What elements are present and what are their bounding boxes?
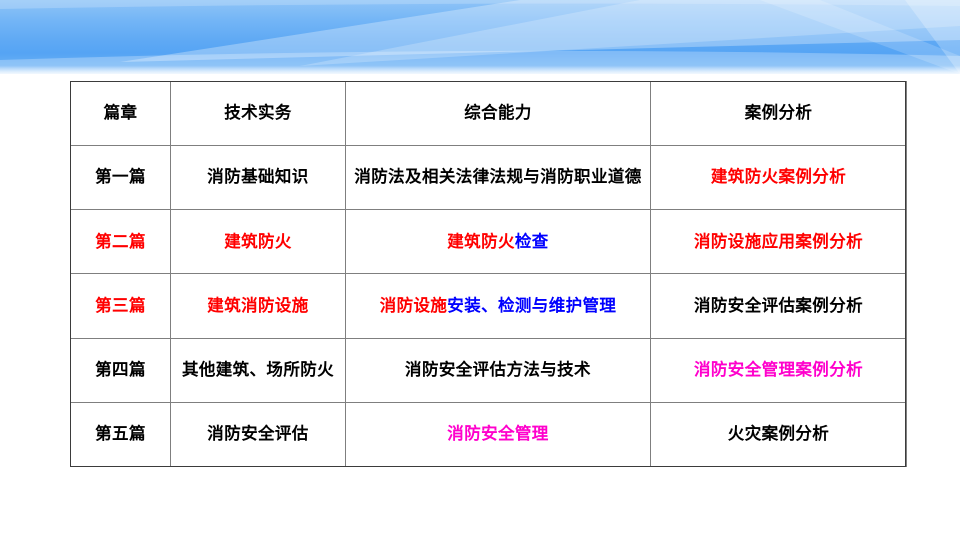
text-segment: 其他建筑、场所防火 [182, 361, 334, 379]
subject-cell: 建筑消防设施 [171, 274, 346, 338]
table-row: 第一篇消防基础知识消防法及相关法律法规与消防职业道德建筑防火案例分析 [71, 146, 907, 210]
subject-cell: 消防设施安装、检测与维护管理 [346, 274, 651, 338]
chapter-cell: 第一篇 [71, 146, 171, 210]
subject-cell: 消防安全评估 [171, 402, 346, 466]
slide-canvas: 篇章技术实务综合能力案例分析第一篇消防基础知识消防法及相关法律法规与消防职业道德… [0, 0, 960, 540]
text-segment: 建筑消防设施 [207, 297, 308, 315]
table-container: 篇章技术实务综合能力案例分析第一篇消防基础知识消防法及相关法律法规与消防职业道德… [70, 81, 906, 467]
text-segment: 消防设施 [380, 297, 448, 315]
subject-cell: 消防安全评估方法与技术 [346, 338, 651, 402]
text-segment: 建筑防火 [224, 233, 292, 251]
chapter-cell: 第四篇 [71, 338, 171, 402]
subject-cell: 消防安全管理案例分析 [651, 338, 907, 402]
banner-light-rays [0, 0, 960, 74]
subject-cell: 建筑防火 [171, 210, 346, 274]
table-row: 第四篇其他建筑、场所防火消防安全评估方法与技术消防安全管理案例分析 [71, 338, 907, 402]
text-segment: 消防安全评估 [207, 425, 308, 443]
table-row: 第三篇建筑消防设施消防设施安装、检测与维护管理消防安全评估案例分析 [71, 274, 907, 338]
subject-cell: 消防设施应用案例分析 [651, 210, 907, 274]
text-segment: 建筑防火案例分析 [711, 168, 846, 186]
chapter-cell: 第二篇 [71, 210, 171, 274]
blue-gradient-banner [0, 0, 960, 74]
text-segment: 消防设施应用案例分析 [694, 233, 863, 251]
text-segment: 消防安全管理案例分析 [694, 361, 863, 379]
column-header-0: 篇章 [71, 82, 171, 146]
text-segment: 检查 [515, 233, 549, 251]
subject-cell: 建筑防火检查 [346, 210, 651, 274]
column-header-3: 案例分析 [651, 82, 907, 146]
text-segment: 消防安全评估方法与技术 [405, 361, 591, 379]
chapter-cell: 第三篇 [71, 274, 171, 338]
text-segment: 建筑防火 [447, 233, 515, 251]
text-segment: 消防安全评估案例分析 [694, 297, 863, 315]
subject-cell: 消防安全管理 [346, 402, 651, 466]
subject-cell: 消防安全评估案例分析 [651, 274, 907, 338]
column-header-2: 综合能力 [346, 82, 651, 146]
subject-cell: 火灾案例分析 [651, 402, 907, 466]
subject-cell: 建筑防火案例分析 [651, 146, 907, 210]
text-segment: 消防安全管理 [447, 425, 548, 443]
subject-cell: 消防法及相关法律法规与消防职业道德 [346, 146, 651, 210]
text-segment: 消防基础知识 [207, 168, 308, 186]
chapter-cell: 第五篇 [71, 402, 171, 466]
table-header-row: 篇章技术实务综合能力案例分析 [71, 82, 907, 146]
table-row: 第二篇建筑防火建筑防火检查消防设施应用案例分析 [71, 210, 907, 274]
text-segment: 安装、检测与维护管理 [447, 297, 616, 315]
text-segment: 火灾案例分析 [728, 425, 829, 443]
column-header-1: 技术实务 [171, 82, 346, 146]
subject-cell: 其他建筑、场所防火 [171, 338, 346, 402]
subject-cell: 消防基础知识 [171, 146, 346, 210]
table-row: 第五篇消防安全评估消防安全管理火灾案例分析 [71, 402, 907, 466]
text-segment: 消防法及相关法律法规与消防职业道德 [354, 168, 641, 186]
exam-subject-matrix: 篇章技术实务综合能力案例分析第一篇消防基础知识消防法及相关法律法规与消防职业道德… [70, 81, 907, 467]
